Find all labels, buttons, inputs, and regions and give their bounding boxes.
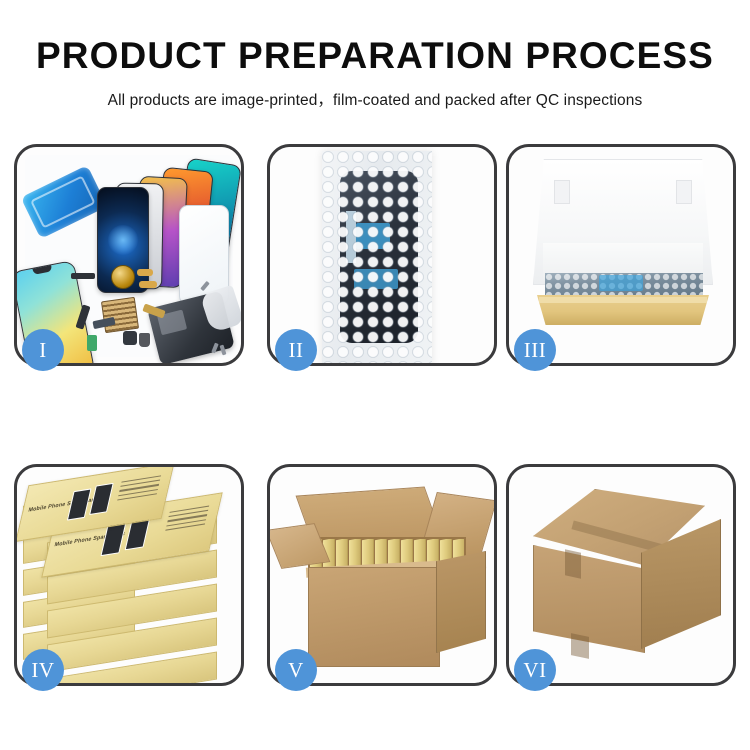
page-subtitle: All products are image-printed，film-coat… — [0, 88, 750, 110]
step-badge-5: V — [275, 649, 317, 691]
carton-front-face — [533, 545, 645, 653]
step-badge-1: I — [22, 329, 64, 371]
tape-strip — [571, 633, 589, 659]
carton-front-face — [308, 567, 440, 667]
bubble-wrap-texture — [322, 151, 432, 363]
page-title: PRODUCT PREPARATION PROCESS — [0, 37, 750, 74]
carton-side-face — [436, 551, 486, 653]
tape-strip — [565, 549, 581, 578]
page-header: PRODUCT PREPARATION PROCESS All products… — [0, 0, 750, 110]
step-badge-3: III — [514, 329, 556, 371]
step-badge-6: VI — [514, 649, 556, 691]
connector-grid-icon — [101, 297, 139, 333]
step-badge-4: IV — [22, 649, 64, 691]
step-badge-2: II — [275, 329, 317, 371]
copper-coil-icon — [111, 265, 135, 289]
process-step-grid: I II III — [14, 144, 736, 686]
